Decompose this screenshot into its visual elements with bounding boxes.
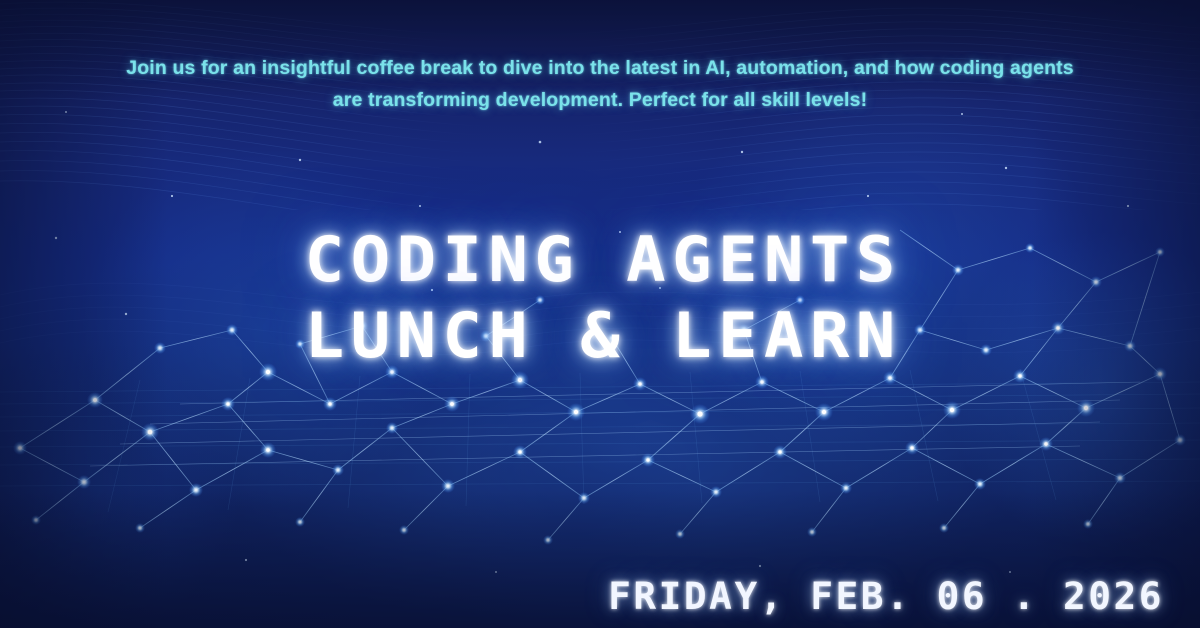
event-title: CODING AGENTS LUNCH & LEARN	[0, 222, 1200, 374]
event-description: Join us for an insightful coffee break t…	[0, 52, 1200, 116]
banner-content: Join us for an insightful coffee break t…	[0, 0, 1200, 628]
event-date: FRIDAY, FEB. 06 . 2026	[608, 575, 1164, 619]
title-line-1: CODING AGENTS	[0, 222, 1200, 298]
title-line-2: LUNCH & LEARN	[0, 298, 1200, 374]
event-banner: Join us for an insightful coffee break t…	[0, 0, 1200, 628]
